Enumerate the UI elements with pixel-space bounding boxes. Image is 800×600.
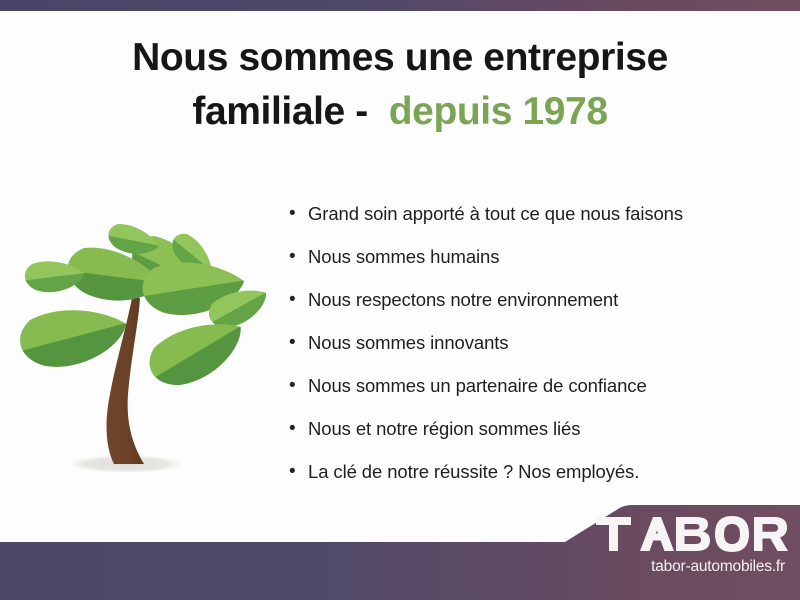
title-accent-text: depuis 1978 — [389, 90, 608, 133]
family-tree-illustration — [14, 196, 266, 482]
slide-canvas: Nous sommes une entreprise familiale - d… — [0, 0, 800, 600]
bullet-icon: • — [286, 290, 308, 309]
list-item: • Nous sommes humains — [286, 235, 766, 278]
brand-website[interactable]: tabor-automobiles.fr — [582, 558, 788, 576]
title-line-2: familiale - depuis 1978 — [40, 85, 760, 139]
brand-logo[interactable]: tabor-automobiles.fr — [582, 513, 788, 593]
title-dash-glyph: - — [355, 90, 368, 133]
tree-leaf — [147, 317, 241, 391]
bullet-icon: • — [286, 247, 308, 266]
title-line-1-text: Nous sommes une entreprise — [132, 36, 668, 79]
bullet-icon: • — [286, 204, 308, 223]
bullet-icon: • — [286, 462, 308, 481]
title-dash — [345, 90, 355, 133]
list-item: • La clé de notre réussite ? Nos employé… — [286, 450, 766, 493]
list-item-label: Nous et notre région sommes liés — [308, 417, 580, 441]
list-item: • Nous sommes un partenaire de confiance — [286, 364, 766, 407]
list-item: • Grand soin apporté à tout ce que nous … — [286, 192, 766, 235]
tabor-wordmark-icon — [596, 513, 788, 555]
list-item: • Nous et notre région sommes liés — [286, 407, 766, 450]
tree-leaf — [14, 288, 127, 389]
list-item-label: Nous respectons notre environnement — [308, 288, 618, 312]
bullet-icon: • — [286, 419, 308, 438]
bullet-icon: • — [286, 333, 308, 352]
list-item-label: La clé de notre réussite ? Nos employés. — [308, 460, 639, 484]
list-item-label: Nous sommes innovants — [308, 331, 508, 355]
list-item: • Nous sommes innovants — [286, 321, 766, 364]
top-accent-bar — [0, 0, 800, 11]
values-list: • Grand soin apporté à tout ce que nous … — [286, 192, 766, 493]
bullet-icon: • — [286, 376, 308, 395]
list-item-label: Grand soin apporté à tout ce que nous fa… — [308, 202, 683, 226]
title-gap — [368, 90, 389, 133]
page-title: Nous sommes une entreprise familiale - d… — [40, 31, 760, 139]
list-item: • Nous respectons notre environnement — [286, 278, 766, 321]
list-item-label: Nous sommes un partenaire de confiance — [308, 374, 647, 398]
title-line-1: Nous sommes une entreprise — [40, 31, 760, 85]
title-line-2-text: familiale — [192, 90, 344, 133]
list-item-label: Nous sommes humains — [308, 245, 499, 269]
